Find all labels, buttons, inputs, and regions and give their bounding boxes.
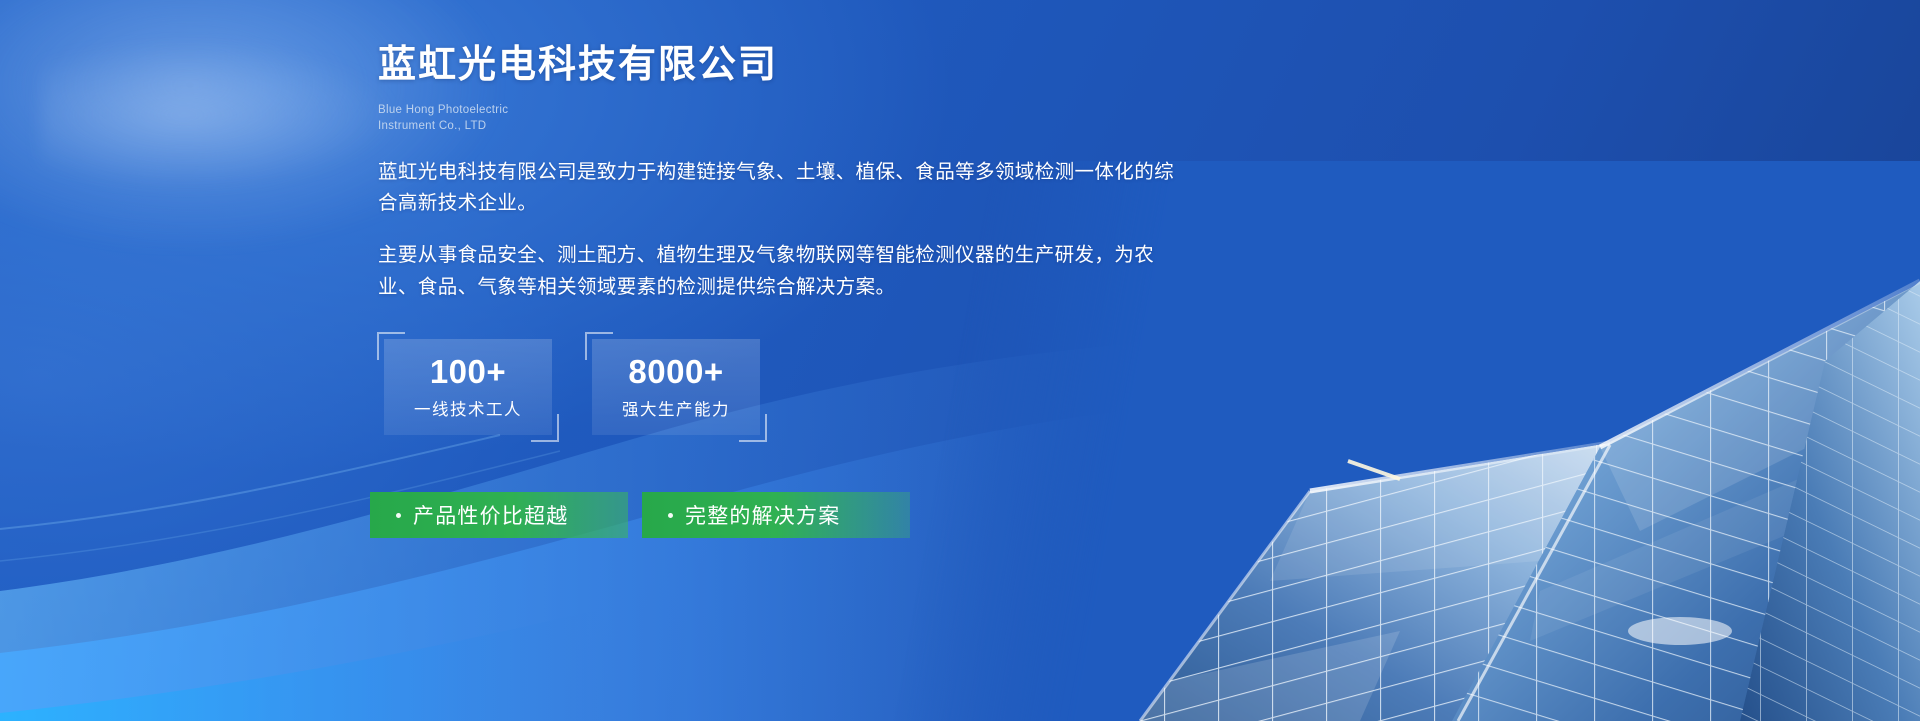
stat-card-capacity: 8000+ 强大生产能力 — [592, 339, 760, 435]
feature-tag-solution: 完整的解决方案 — [642, 492, 910, 538]
stats-group: 100+ 一线技术工人 8000+ 强大生产能力 — [384, 339, 1198, 435]
intro-paragraph-2: 主要从事食品安全、测土配方、植物生理及气象物联网等智能检测仪器的生产研发，为农业… — [378, 240, 1178, 303]
cloud-wisp-decoration-secondary — [40, 40, 400, 190]
feature-tags-group: 产品性价比超越 完整的解决方案 — [370, 492, 910, 538]
stat-card-workers: 100+ 一线技术工人 — [384, 339, 552, 435]
stat-number: 8000+ — [628, 355, 723, 388]
hero-banner: 蓝虹光电科技有限公司 Blue Hong Photoelectric Instr… — [0, 0, 1920, 721]
company-title: 蓝虹光电科技有限公司 — [378, 42, 1198, 90]
company-subtitle-en: Blue Hong Photoelectric Instrument Co., … — [378, 102, 1198, 135]
bullet-dot-icon — [396, 513, 401, 518]
stat-label: 一线技术工人 — [414, 402, 522, 419]
subtitle-line-2: Instrument Co., LTD — [378, 118, 1198, 135]
hero-content: 蓝虹光电科技有限公司 Blue Hong Photoelectric Instr… — [378, 0, 1198, 435]
feature-tag-label: 完整的解决方案 — [685, 500, 840, 530]
stat-number: 100+ — [430, 355, 506, 388]
feature-tag-label: 产品性价比超越 — [413, 500, 568, 530]
intro-paragraph-1: 蓝虹光电科技有限公司是致力于构建链接气象、土壤、植保、食品等多领域检测一体化的综… — [378, 157, 1178, 220]
subtitle-line-1: Blue Hong Photoelectric — [378, 102, 1198, 119]
stat-label: 强大生产能力 — [622, 402, 730, 419]
bullet-dot-icon — [668, 513, 673, 518]
feature-tag-value: 产品性价比超越 — [370, 492, 628, 538]
